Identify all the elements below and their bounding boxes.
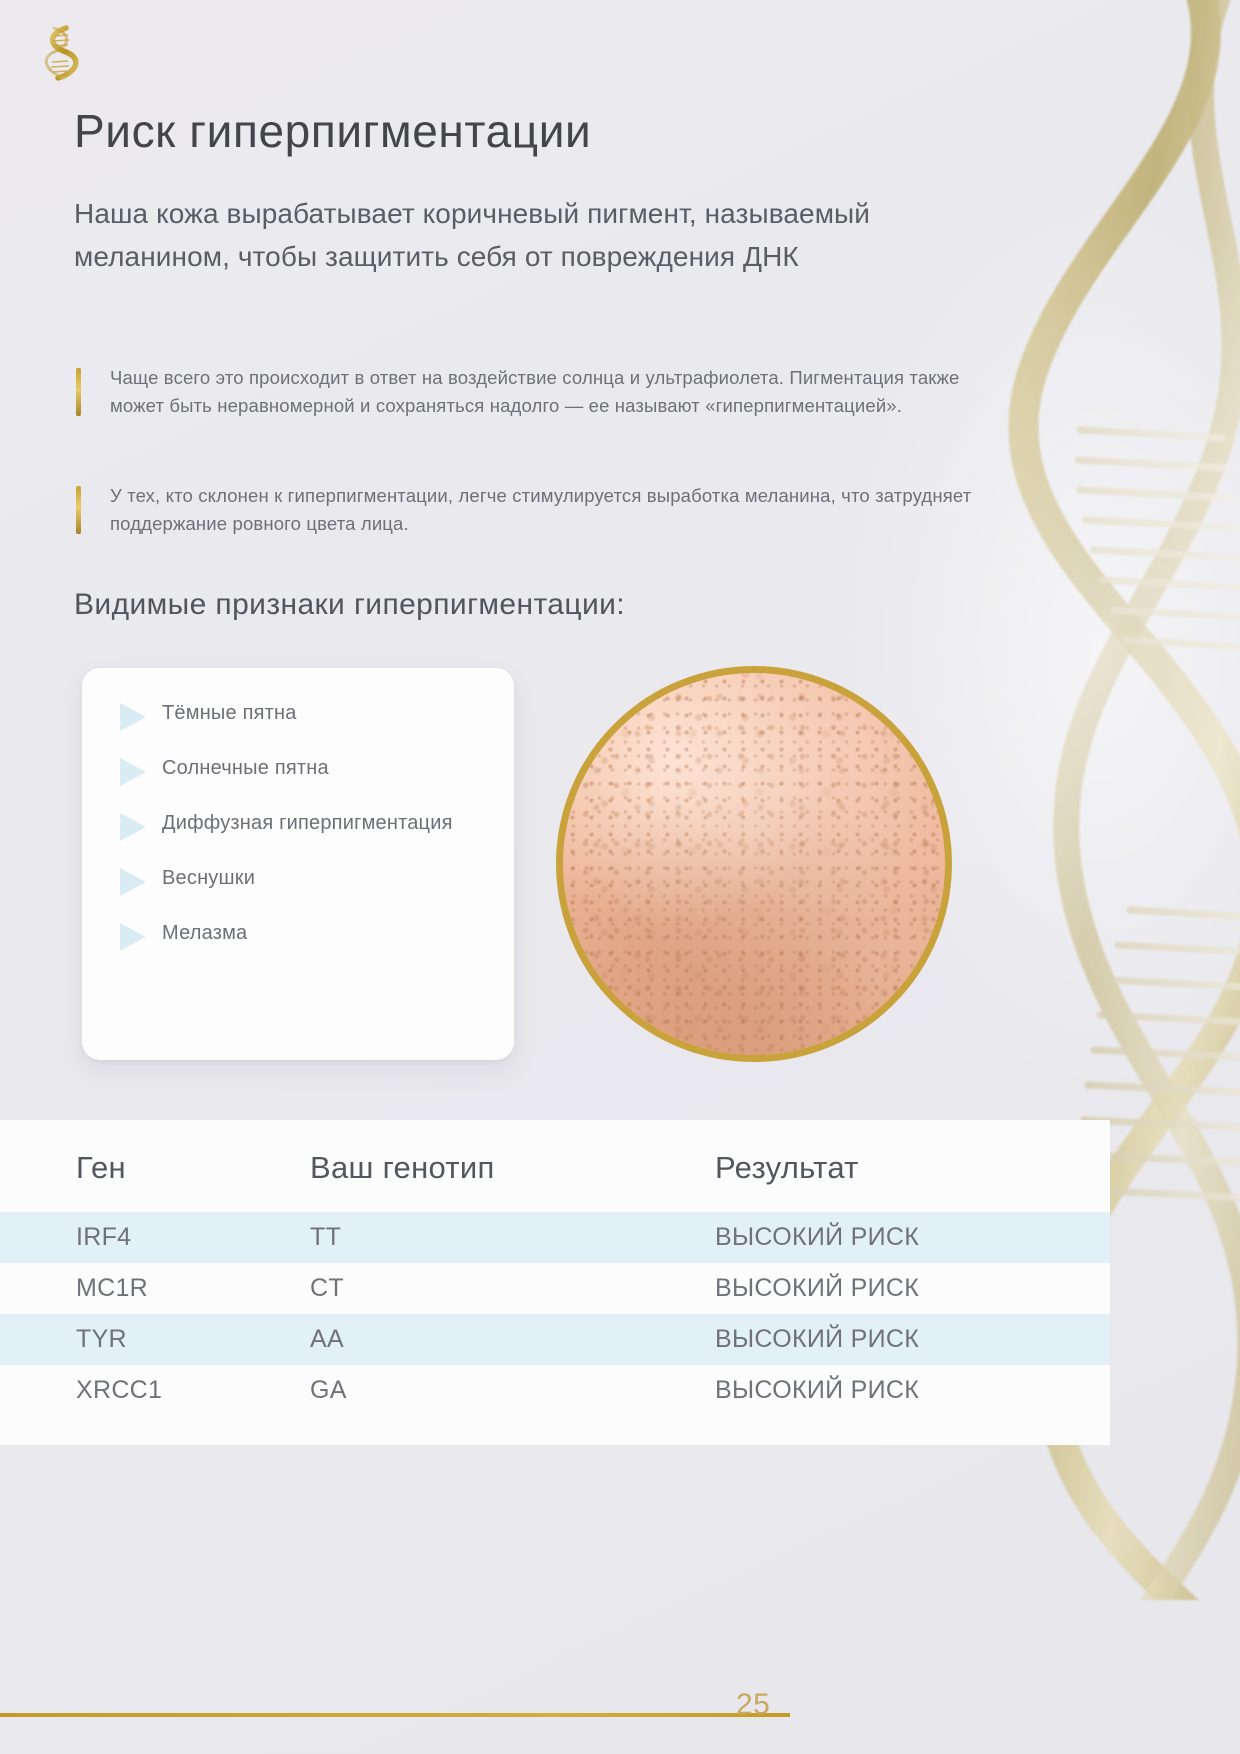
cell-gene: TYR [0,1314,310,1365]
list-item: Веснушки [108,863,488,896]
column-header-gene: Ген [0,1120,310,1212]
sign-label: Тёмные пятна [162,698,297,729]
sign-label: Мелазма [162,918,247,949]
cell-gene: IRF4 [0,1212,310,1263]
column-header-result: Результат [715,1120,1110,1212]
sign-label: Солнечные пятна [162,753,329,784]
results-table-wrap: Ген Ваш генотип Результат IRF4 TT ВЫСОКИ… [0,1120,1110,1445]
table-row: XRCC1 GA ВЫСОКИЙ РИСК [0,1365,1110,1445]
table-row: MC1R CT ВЫСОКИЙ РИСК [0,1263,1110,1314]
section-heading-signs: Видимые признаки гиперпигментации: [74,588,625,622]
page-title: Риск гиперпигментации [74,104,591,158]
table-row: TYR AA ВЫСОКИЙ РИСК [0,1314,1110,1365]
status-badge: ВЫСОКИЙ РИСК [715,1365,1110,1445]
cell-gene: XRCC1 [0,1365,310,1445]
cell-genotype: CT [310,1263,715,1314]
triangle-right-icon [120,758,146,786]
cell-genotype: AA [310,1314,715,1365]
footer-divider [0,1713,790,1717]
list-item: Солнечные пятна [108,753,488,786]
results-table: Ген Ваш генотип Результат IRF4 TT ВЫСОКИ… [0,1120,1110,1445]
page-number: 25 [736,1688,770,1722]
sign-label: Веснушки [162,863,255,894]
status-badge: ВЫСОКИЙ РИСК [715,1263,1110,1314]
triangle-right-icon [120,868,146,896]
skin-photo-shading [563,673,945,1055]
table-row: IRF4 TT ВЫСОКИЙ РИСК [0,1212,1110,1263]
cell-genotype: TT [310,1212,715,1263]
column-header-genotype: Ваш генотип [310,1120,715,1212]
quote-block-1: Чаще всего это происходит в ответ на воз… [76,364,1006,420]
triangle-right-icon [120,813,146,841]
skin-photo-circle [556,666,952,1062]
dna-helix-icon [38,22,82,84]
cell-gene: MC1R [0,1263,310,1314]
list-item: Мелазма [108,918,488,951]
triangle-right-icon [120,923,146,951]
status-badge: ВЫСОКИЙ РИСК [715,1314,1110,1365]
table-header-row: Ген Ваш генотип Результат [0,1120,1110,1212]
quote-block-2: У тех, кто склонен к гиперпигментации, л… [76,482,1006,538]
status-badge: ВЫСОКИЙ РИСК [715,1212,1110,1263]
list-item: Диффузная гиперпигментация [108,808,488,841]
sign-label: Диффузная гиперпигментация [162,808,453,839]
list-item: Тёмные пятна [108,698,488,731]
cell-genotype: GA [310,1365,715,1445]
report-page: Риск гиперпигментации Наша кожа вырабаты… [0,0,1240,1754]
signs-card: Тёмные пятна Солнечные пятна Диффузная г… [82,668,514,1060]
page-lede: Наша кожа вырабатывает коричневый пигмен… [74,192,954,278]
triangle-right-icon [120,703,146,731]
